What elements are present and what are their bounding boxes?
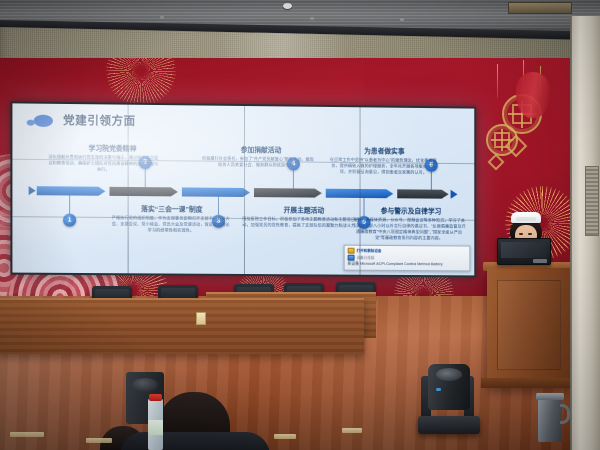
conference-hall-photo: 党建引领方面 1 2 3 4 5 6 [0,0,600,450]
presenter-eye [528,233,532,235]
light-base [418,416,480,434]
paper-scrap [342,428,362,433]
podium [487,268,571,386]
lantern-decor [516,72,550,118]
paper-scrap [274,434,296,439]
side-wall [572,16,600,450]
table-grain [0,300,364,354]
bottle-label [148,420,163,435]
smoke-detector-icon [283,3,292,9]
head-table [0,298,364,354]
paper-scrap [86,438,112,443]
laptop[interactable] [497,238,551,265]
audience-shoulders [120,432,270,450]
light-lens [436,368,462,381]
thermos-lid [536,393,564,400]
thermos-mug [538,398,562,442]
podium-front-panel [497,280,561,370]
paper-scrap [10,432,44,437]
wall-vent-grill [585,166,599,236]
table-name-card [196,312,206,325]
presenter-eye [519,233,523,235]
ceiling-fixture [160,16,164,19]
ceiling-vent [508,2,572,14]
light-status-led [436,388,441,391]
light-head [428,364,470,410]
videowall-frame [10,101,476,277]
podium-base [481,378,577,388]
nurse-cap-icon [511,212,541,223]
bottle-cap [149,394,162,401]
laptop-screen [501,242,547,258]
tassel [497,64,498,98]
firework-burst-icon [106,58,176,106]
led-video-wall[interactable]: 党建引领方面 1 2 3 4 5 6 [10,101,476,277]
moving-head-stage-light [418,362,480,434]
ceiling-fixture [310,17,314,20]
laptop-brand-label [533,259,547,263]
ceiling-fixture [400,18,404,21]
